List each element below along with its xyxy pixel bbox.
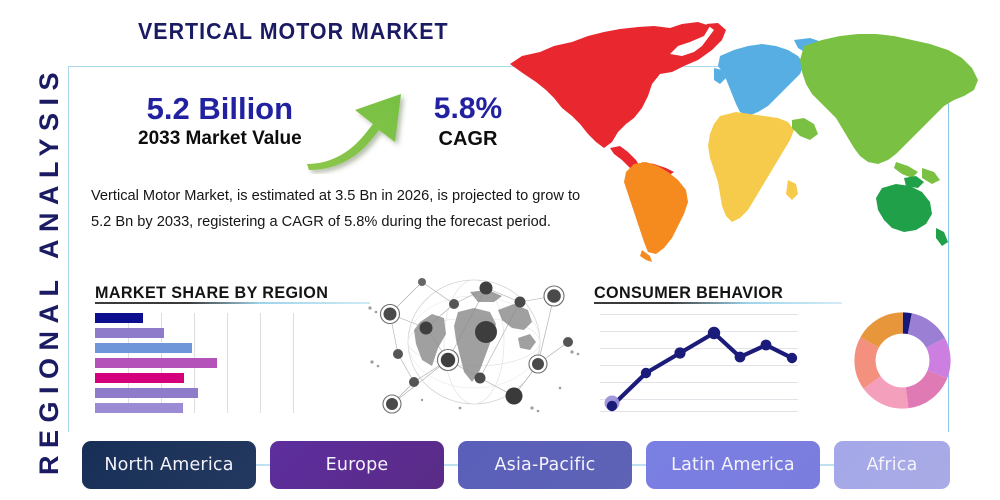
bar-row [95,328,164,338]
region-tab-north-america[interactable]: North America [82,441,256,489]
section-rule-consumer-behavior [594,302,842,304]
bar-row [95,313,143,323]
section-header-market-share: MARKET SHARE BY REGION [95,283,328,303]
kpi-market-value-number: 5.2 Billion [138,90,302,128]
market-share-bar-chart [95,313,307,413]
kpi-market-value: 5.2 Billion 2033 Market Value [138,90,302,152]
bar-row [95,403,183,413]
vertical-section-label: REGIONAL ANALYSIS [29,75,69,475]
section-header-consumer-behavior: CONSUMER BEHAVIOR [594,283,783,303]
region-tab-label: Africa [866,455,917,475]
region-tabs: North America Europe Asia-Pacific Latin … [82,441,950,489]
kpi-block: 5.2 Billion 2033 Market Value 5.8% C [90,90,520,170]
region-tab-latin-america[interactable]: Latin America [646,441,820,489]
bar-row [95,373,184,383]
region-tab-asia-pacific[interactable]: Asia-Pacific [458,441,632,489]
page-title: VERTICAL MOTOR MARKET [138,18,449,45]
region-tab-label: Europe [326,455,389,475]
region-tab-label: Asia-Pacific [494,455,595,475]
region-tab-europe[interactable]: Europe [270,441,444,489]
infographic-root: REGIONAL ANALYSIS VERTICAL MOTOR MARKET … [0,0,1000,500]
growth-arrow-icon [305,84,415,174]
world-map-icon [492,12,992,274]
bar-row [95,343,192,353]
region-tab-label: Latin America [671,455,795,475]
consumer-behavior-line-chart [600,310,798,414]
region-tab-africa[interactable]: Africa [834,441,950,489]
section-rule-market-share [95,302,370,304]
bar-row [95,358,217,368]
kpi-market-value-label: 2033 Market Value [138,126,302,152]
region-tab-label: North America [104,455,233,475]
globe-network-icon [362,268,586,420]
bar-row [95,388,198,398]
donut-chart [853,311,952,410]
